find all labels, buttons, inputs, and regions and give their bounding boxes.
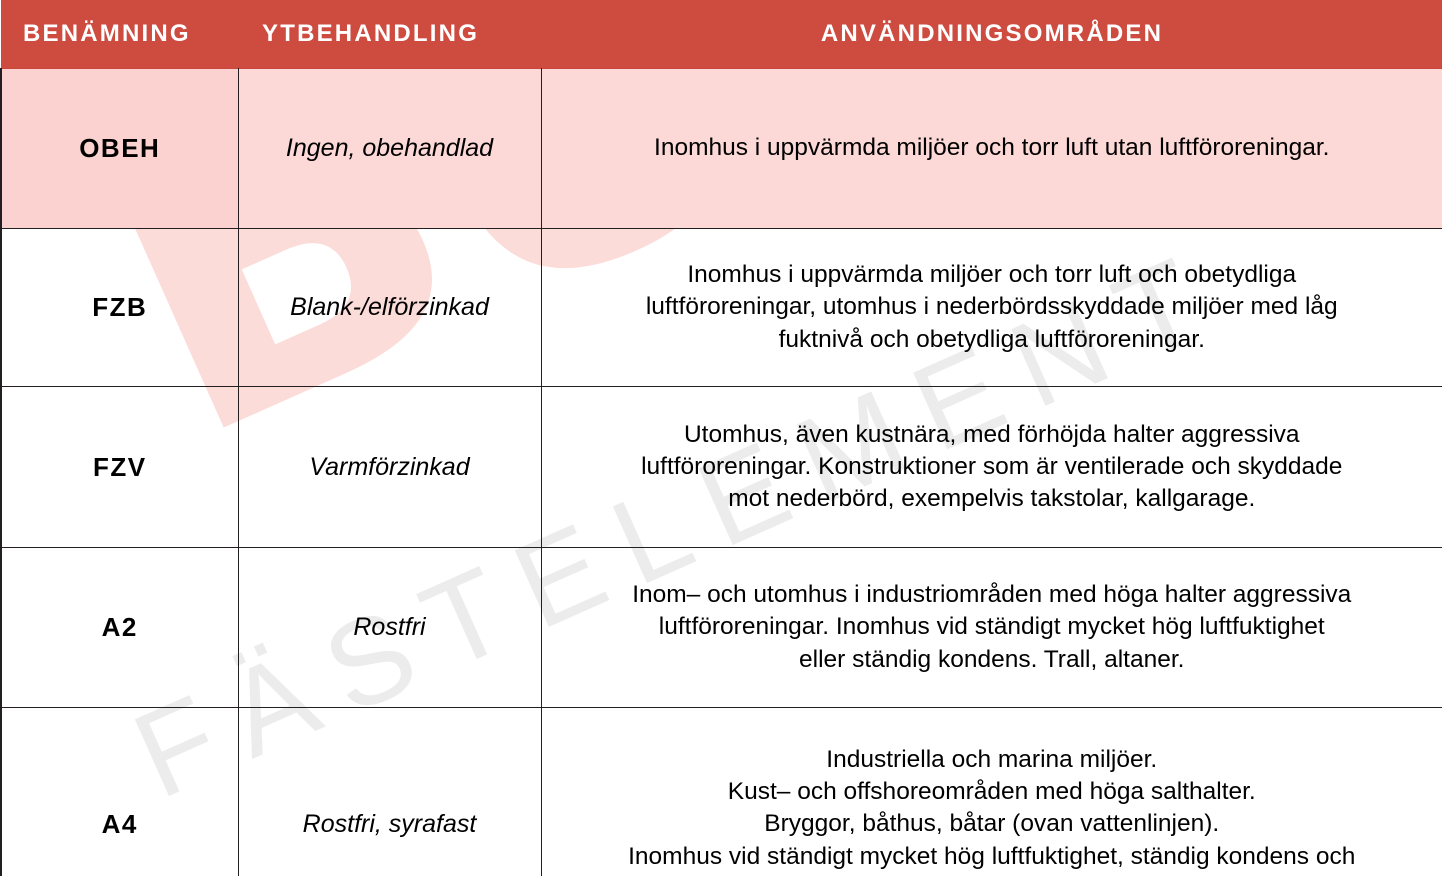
cell-text-line: luftföroreningar. Inomhus vid ständigt m… — [556, 611, 1429, 643]
column-header-ytbehandling: YTBEHANDLING — [238, 0, 541, 69]
table-page: BULTAB FÄSTELEMENT BENÄMNING YTBEHANDLIN… — [0, 0, 1442, 876]
cell-ytbehandling: Rostfri — [238, 548, 541, 708]
cell-benamning: A2 — [1, 548, 238, 708]
cell-text-line: fuktnivå och obetydliga luftföroreningar… — [556, 324, 1429, 356]
cell-text-line: luftföroreningar, utomhus i nederbördssk… — [556, 291, 1429, 323]
cell-text-line: Kust– och offshoreområden med höga salth… — [556, 776, 1429, 808]
cell-text-line: mot nederbörd, exempelvis takstolar, kal… — [556, 483, 1429, 515]
cell-text-line: eller ständig kondens. Trall, altaner. — [556, 644, 1429, 676]
cell-text-line: Utomhus, även kustnära, med förhöjda hal… — [556, 419, 1429, 451]
cell-benamning: OBEH — [1, 69, 238, 229]
cell-text-line: Bryggor, båthus, båtar (ovan vattenlinje… — [556, 808, 1429, 840]
cell-ytbehandling: Varmförzinkad — [238, 387, 541, 548]
cell-text-line: Industriella och marina miljöer. — [556, 744, 1429, 776]
table-header: BENÄMNING YTBEHANDLING ANVÄNDNINGSOMRÅDE… — [1, 0, 1442, 69]
cell-anvandningsomraden: Inom– och utomhus i industriområden med … — [541, 548, 1442, 708]
table-body: OBEHIngen, obehandladInomhus i uppvärmda… — [1, 69, 1442, 876]
cell-text-line: Inomhus vid ständigt mycket hög luftfukt… — [556, 841, 1429, 873]
cell-text-line: luftföroreningar. Konstruktioner som är … — [556, 451, 1429, 483]
table-header-row: BENÄMNING YTBEHANDLING ANVÄNDNINGSOMRÅDE… — [1, 0, 1442, 69]
cell-ytbehandling: Blank-/elförzinkad — [238, 229, 541, 387]
cell-benamning: FZB — [1, 229, 238, 387]
surface-treatment-table: BENÄMNING YTBEHANDLING ANVÄNDNINGSOMRÅDE… — [0, 0, 1442, 876]
cell-ytbehandling: Ingen, obehandlad — [238, 69, 541, 229]
cell-text-line: Inom– och utomhus i industriområden med … — [556, 579, 1429, 611]
table-row: OBEHIngen, obehandladInomhus i uppvärmda… — [1, 69, 1442, 229]
cell-anvandningsomraden: Inomhus i uppvärmda miljöer och torr luf… — [541, 69, 1442, 229]
table-row: A4Rostfri, syrafastIndustriella och mari… — [1, 708, 1442, 876]
table-row: A2RostfriInom– och utomhus i industriomr… — [1, 548, 1442, 708]
cell-text-line: Inomhus i uppvärmda miljöer och torr luf… — [556, 259, 1429, 291]
column-header-benamning: BENÄMNING — [1, 0, 238, 69]
cell-ytbehandling: Rostfri, syrafast — [238, 708, 541, 876]
cell-benamning: FZV — [1, 387, 238, 548]
cell-text-line: Inomhus i uppvärmda miljöer och torr luf… — [556, 132, 1429, 164]
column-header-anvandningsomraden: ANVÄNDNINGSOMRÅDEN — [541, 0, 1442, 69]
cell-anvandningsomraden: Utomhus, även kustnära, med förhöjda hal… — [541, 387, 1442, 548]
cell-anvandningsomraden: Inomhus i uppvärmda miljöer och torr luf… — [541, 229, 1442, 387]
table-row: FZBBlank-/elförzinkadInomhus i uppvärmda… — [1, 229, 1442, 387]
table-row: FZVVarmförzinkadUtomhus, även kustnära, … — [1, 387, 1442, 548]
cell-benamning: A4 — [1, 708, 238, 876]
cell-anvandningsomraden: Industriella och marina miljöer.Kust– oc… — [541, 708, 1442, 876]
